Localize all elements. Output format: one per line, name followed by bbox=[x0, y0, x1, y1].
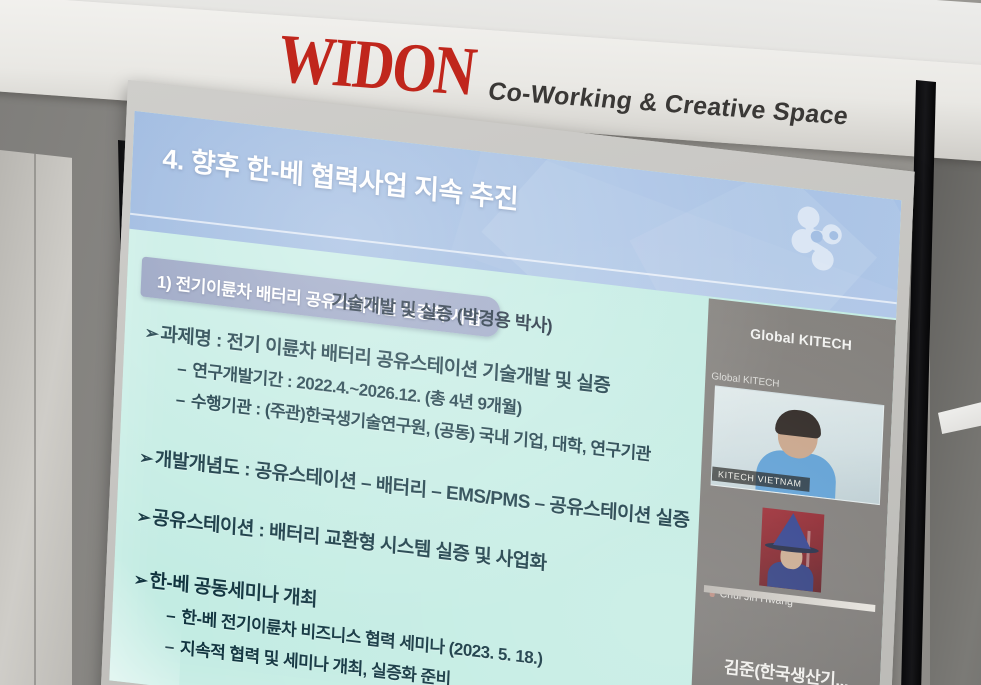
bullet-dash-icon: – bbox=[177, 359, 187, 380]
widon-brand-text: WIDON bbox=[273, 19, 479, 112]
vc-video-tile[interactable]: KITECH VIETNAM bbox=[711, 385, 885, 505]
vc-heading: Global KITECH bbox=[707, 320, 895, 358]
left-wall-panel bbox=[0, 150, 72, 685]
video-conference-panel[interactable]: Global KITECH Global KITECH KITECH VIETN… bbox=[689, 298, 896, 685]
vc-participant-thumbnail[interactable] bbox=[759, 507, 824, 592]
person-hair bbox=[775, 408, 822, 439]
bullet-arrow-icon: ➢ bbox=[144, 323, 159, 345]
wizard-hat-icon bbox=[773, 511, 812, 549]
bullet-arrow-icon: ➢ bbox=[139, 448, 154, 470]
room-scene: WIDON Co-Working & Creative Space 기술 4. … bbox=[0, 0, 981, 685]
bullet-dash-icon: – bbox=[175, 390, 185, 411]
wall-seam bbox=[34, 154, 36, 685]
projector-glow bbox=[109, 560, 184, 685]
molecule-logo-icon bbox=[780, 199, 855, 279]
widon-tagline-text: Co-Working & Creative Space bbox=[486, 77, 850, 131]
bullet-arrow-icon: ➢ bbox=[136, 507, 151, 529]
vc-active-speaker-name: 김준(한국생산기... bbox=[692, 649, 880, 685]
presentation-slide: 기술 4. 향후 한-베 협력사업 지속 추진 bbox=[109, 111, 901, 685]
projection-screen: 기술 4. 향후 한-베 협력사업 지속 추진 bbox=[100, 80, 914, 685]
